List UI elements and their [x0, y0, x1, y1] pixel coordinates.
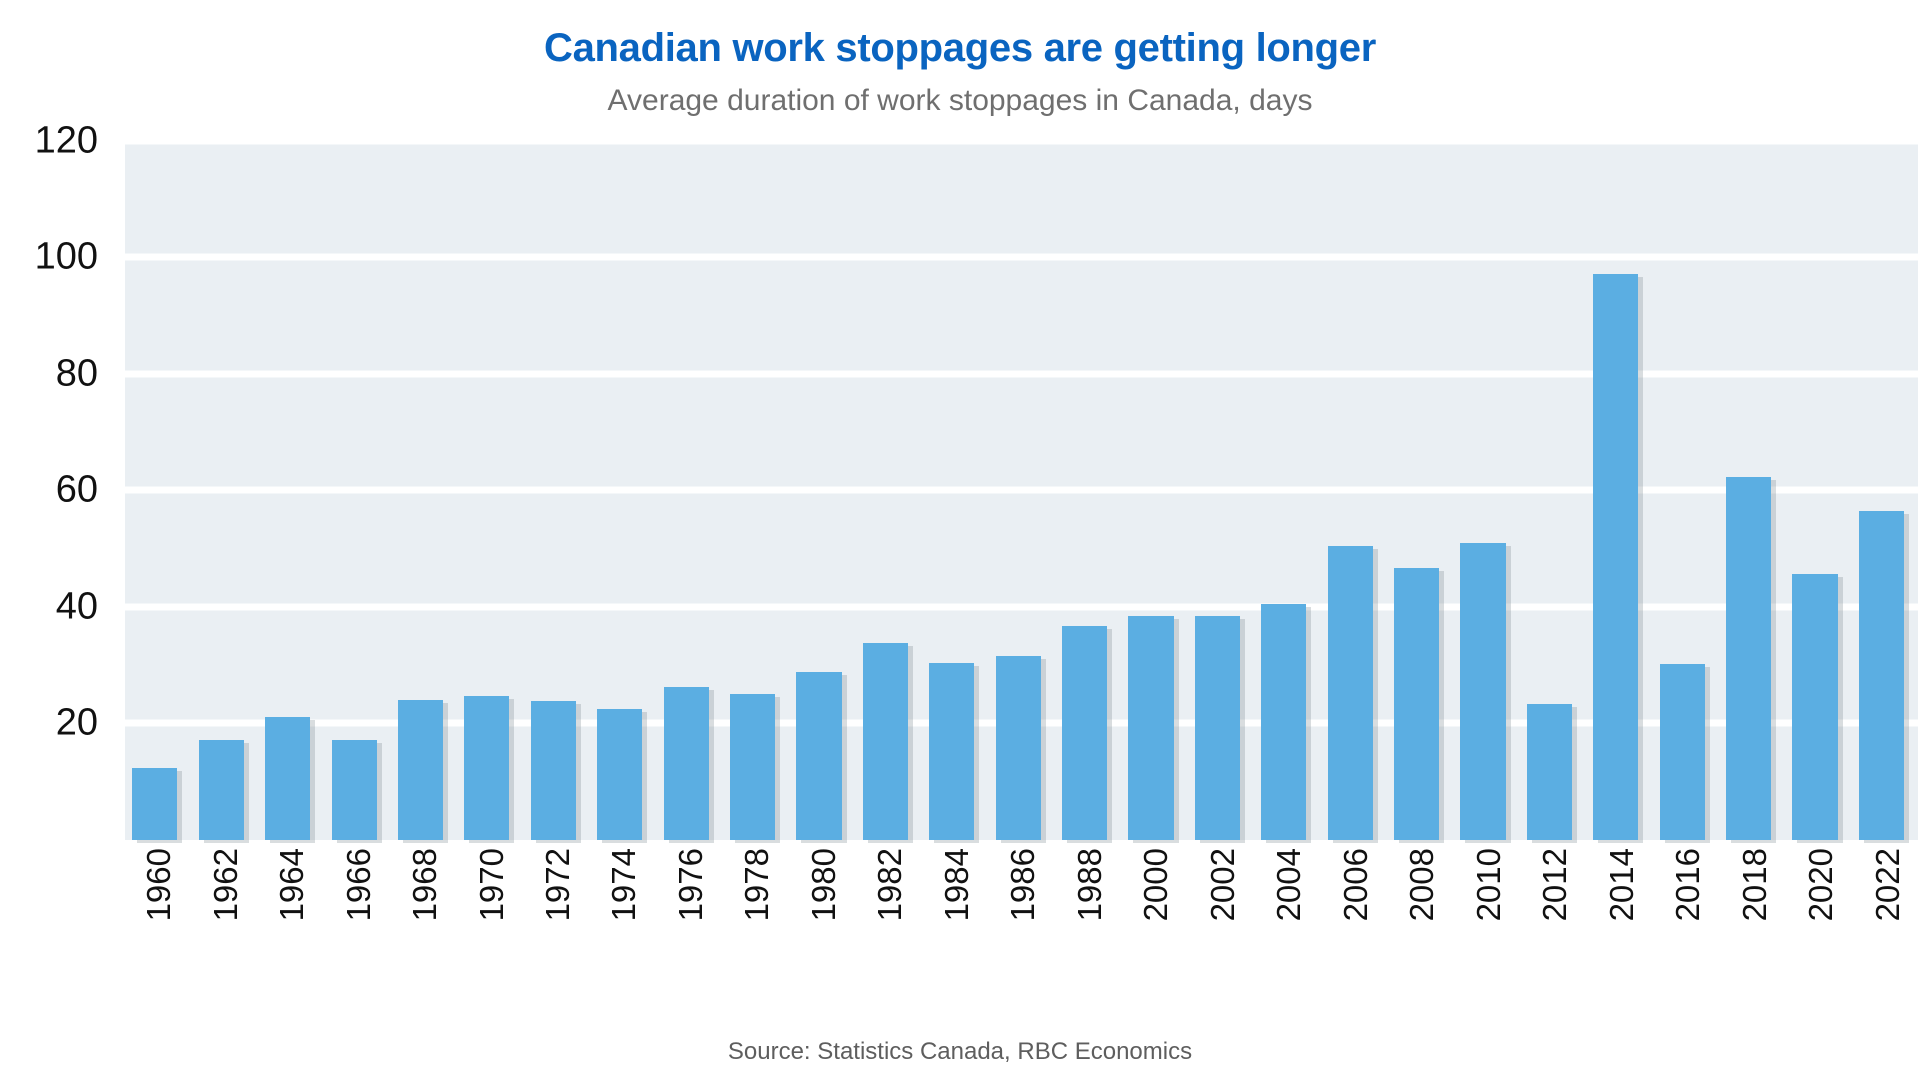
bar-slot — [1719, 141, 1785, 840]
bar-slot — [789, 141, 855, 840]
bar-slot — [1254, 141, 1320, 840]
bar[interactable] — [1660, 664, 1705, 840]
bar[interactable] — [332, 740, 377, 840]
x-axis-tick-label: 2004 — [1270, 848, 1308, 921]
x-axis-tick-label: 1984 — [938, 848, 976, 921]
plot-region: 20406080100120 — [0, 141, 1920, 840]
chart-container: Canadian work stoppages are getting long… — [0, 0, 1920, 1080]
bar-slot — [590, 141, 656, 840]
bar[interactable] — [597, 709, 642, 840]
bar-slot — [1121, 141, 1187, 840]
x-axis-tick-label: 1972 — [539, 848, 577, 921]
bar-slot — [1852, 141, 1918, 840]
bar[interactable] — [265, 717, 310, 840]
bar[interactable] — [1859, 511, 1904, 840]
bar-slot — [1586, 141, 1652, 840]
x-axis-tick-label: 1966 — [340, 848, 378, 921]
bar-slot — [258, 141, 324, 840]
x-axis-tick-label: 2012 — [1536, 848, 1574, 921]
bar-slot — [1387, 141, 1453, 840]
bar[interactable] — [1726, 477, 1771, 840]
y-axis-tick-label: 60 — [56, 469, 98, 512]
x-axis-tick-label: 1986 — [1004, 848, 1042, 921]
chart-subtitle: Average duration of work stoppages in Ca… — [0, 83, 1920, 119]
x-axis-tick-label: 1974 — [605, 848, 643, 921]
bar-slot — [523, 141, 589, 840]
bar-slot — [1188, 141, 1254, 840]
bar[interactable] — [1460, 543, 1505, 840]
bar-slot — [324, 141, 390, 840]
bar-slot — [125, 141, 191, 840]
x-axis-tick-label: 2016 — [1669, 848, 1707, 921]
bar-slot — [723, 141, 789, 840]
bar-slot — [1520, 141, 1586, 840]
x-axis-tick-label: 1962 — [207, 848, 245, 921]
bar-slot — [1785, 141, 1851, 840]
x-axis-tick-label: 2022 — [1869, 848, 1907, 921]
bar[interactable] — [199, 740, 244, 840]
x-axis-tick-label: 2006 — [1337, 848, 1375, 921]
bar[interactable] — [1195, 616, 1240, 840]
bar-slot — [656, 141, 722, 840]
bar[interactable] — [996, 656, 1041, 840]
x-axis-tick-label: 2018 — [1736, 848, 1774, 921]
bar[interactable] — [1128, 616, 1173, 840]
bar-slot — [1320, 141, 1386, 840]
bar-slot — [988, 141, 1054, 840]
x-axis-tick-label: 1982 — [871, 848, 909, 921]
bar-slot — [1055, 141, 1121, 840]
x-axis-tick-label: 1988 — [1071, 848, 1109, 921]
y-axis-tick-label: 100 — [35, 236, 98, 279]
bar[interactable] — [1792, 574, 1837, 840]
x-axis-tick-label: 2000 — [1137, 848, 1175, 921]
bar[interactable] — [1261, 604, 1306, 840]
bar[interactable] — [531, 701, 576, 840]
bar-slot — [457, 141, 523, 840]
y-axis: 20406080100120 — [0, 141, 112, 840]
y-axis-tick-label: 80 — [56, 352, 98, 395]
x-axis-tick-label: 1980 — [805, 848, 843, 921]
x-axis: 1960196219641966196819701972197419761978… — [125, 840, 1920, 1036]
x-axis-tick-label: 2002 — [1204, 848, 1242, 921]
y-axis-tick-label: 40 — [56, 585, 98, 628]
bar[interactable] — [929, 663, 974, 840]
y-axis-tick-label: 120 — [35, 119, 98, 162]
title-block: Canadian work stoppages are getting long… — [0, 0, 1920, 119]
bar-slot — [922, 141, 988, 840]
x-axis-tick-label: 2014 — [1603, 848, 1641, 921]
bar[interactable] — [1527, 704, 1572, 840]
bar-slot — [391, 141, 457, 840]
bar[interactable] — [730, 694, 775, 840]
bar[interactable] — [1062, 626, 1107, 840]
bar[interactable] — [464, 696, 509, 840]
bar[interactable] — [796, 672, 841, 840]
bar-slot — [855, 141, 921, 840]
x-axis-tick-label: 2010 — [1470, 848, 1508, 921]
bar[interactable] — [1394, 568, 1439, 840]
y-axis-tick-label: 20 — [56, 702, 98, 745]
x-axis-tick-label: 1978 — [738, 848, 776, 921]
bar-slot — [1652, 141, 1718, 840]
x-axis-tick-label: 1964 — [273, 848, 311, 921]
bar[interactable] — [1593, 274, 1638, 840]
bar[interactable] — [1328, 546, 1373, 840]
bars-layer — [125, 141, 1918, 840]
source-note: Source: Statistics Canada, RBC Economics — [0, 1036, 1920, 1080]
x-axis-tick-label: 1968 — [406, 848, 444, 921]
x-axis-tick-label: 2020 — [1802, 848, 1840, 921]
bar-slot — [191, 141, 257, 840]
bar[interactable] — [398, 700, 443, 840]
bar-slot — [1453, 141, 1519, 840]
bar[interactable] — [664, 687, 709, 840]
x-axis-tick-label: 2008 — [1403, 848, 1441, 921]
bar[interactable] — [132, 768, 177, 840]
x-axis-tick-label: 1960 — [140, 848, 178, 921]
page-title: Canadian work stoppages are getting long… — [0, 26, 1920, 71]
x-axis-tick-label: 1976 — [672, 848, 710, 921]
bar[interactable] — [863, 643, 908, 840]
x-axis-tick-label: 1970 — [473, 848, 511, 921]
plot-area — [125, 141, 1918, 840]
